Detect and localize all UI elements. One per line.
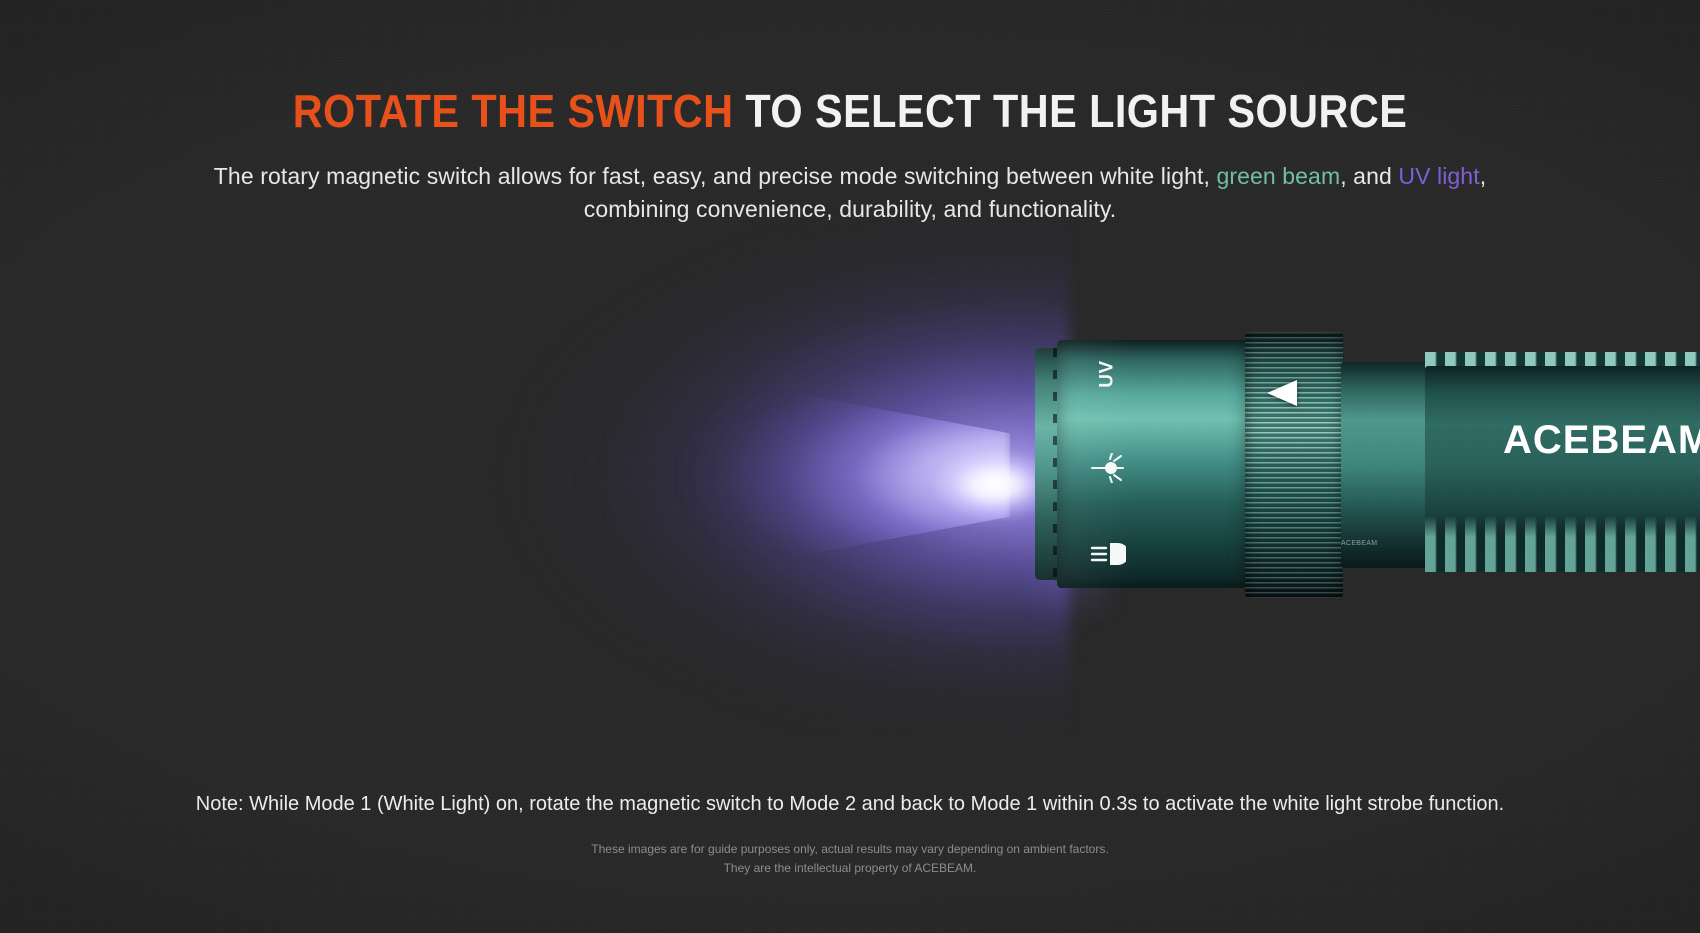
triangle-pointer-icon: [1267, 380, 1297, 406]
disclaimer-line-2: They are the intellectual property of AC…: [250, 859, 1450, 878]
page-title: ROTATE THE SWITCH TO SELECT THE LIGHT SO…: [85, 88, 1615, 134]
subtitle-green-beam: green beam: [1216, 163, 1340, 189]
mode-indicator-green-beam: [1073, 448, 1143, 488]
body-microtext: ACEBEAM: [1341, 540, 1377, 547]
cooling-fins-bottom: [1425, 516, 1700, 572]
usage-note: Note: While Mode 1 (White Light) on, rot…: [100, 790, 1600, 818]
mode-icon-column: UV: [1073, 348, 1143, 580]
page-subtitle: The rotary magnetic switch allows for fa…: [170, 160, 1530, 226]
mode-indicator-white-light: [1073, 534, 1143, 574]
subtitle-uv-light: UV light: [1398, 163, 1479, 189]
disclaimer: These images are for guide purposes only…: [250, 840, 1450, 878]
headline-accent: ROTATE THE SWITCH: [293, 85, 734, 137]
acebeam-logo: ACEBEAM: [1503, 418, 1700, 463]
subtitle-part-1: The rotary magnetic switch allows for fa…: [214, 163, 1217, 189]
flashlight-product-image: UV: [1035, 340, 1700, 600]
flashlight-neck: [1341, 362, 1427, 568]
disclaimer-line-1: These images are for guide purposes only…: [250, 840, 1450, 859]
subtitle-part-2: , and: [1340, 163, 1398, 189]
rotary-magnetic-switch-ring[interactable]: [1245, 332, 1343, 598]
uv-text-icon: UV: [1097, 360, 1119, 387]
flashlight-beam-icon: [1090, 541, 1126, 567]
mode-indicator-uv: UV: [1073, 354, 1143, 394]
sun-burst-icon: [1091, 453, 1125, 483]
promo-panel: UV: [0, 0, 1700, 933]
headline-plain: TO SELECT THE LIGHT SOURCE: [745, 85, 1407, 137]
beam-hotspot: [880, 440, 1040, 530]
